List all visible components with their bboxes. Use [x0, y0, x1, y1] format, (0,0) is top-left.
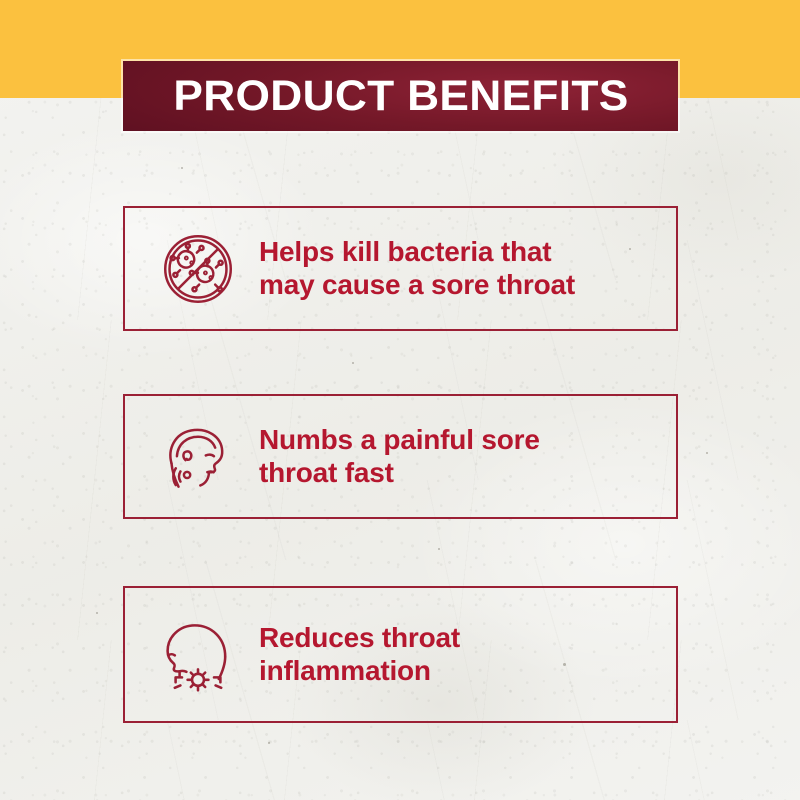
benefit-text: Reduces throat inflammation	[259, 622, 676, 687]
paper-speck	[438, 548, 440, 550]
benefit-text-line: may cause a sore throat	[259, 269, 662, 301]
head-profile-throat-pain-icon	[155, 418, 241, 496]
benefit-card: Reduces throat inflammation	[123, 586, 678, 723]
infographic-canvas: PRODUCT BENEFITS	[0, 0, 800, 800]
no-bacteria-icon	[155, 230, 241, 308]
benefit-text: Helps kill bacteria that may cause a sor…	[259, 236, 676, 301]
paper-speck	[181, 167, 183, 169]
benefit-text: Numbs a painful sore throat fast	[259, 424, 676, 489]
benefit-text-line: throat fast	[259, 457, 662, 489]
page-title: PRODUCT BENEFITS	[173, 75, 628, 118]
page-title-banner: PRODUCT BENEFITS	[123, 61, 678, 131]
benefit-card: Helps kill bacteria that may cause a sor…	[123, 206, 678, 331]
paper-speck	[96, 612, 98, 614]
benefit-text-line: inflammation	[259, 655, 662, 687]
benefit-text-line: Helps kill bacteria that	[259, 236, 662, 268]
benefit-text-line: Reduces throat	[259, 622, 662, 654]
paper-speck	[352, 362, 354, 364]
paper-speck	[706, 452, 708, 454]
benefit-text-line: Numbs a painful sore	[259, 424, 662, 456]
benefit-card: Numbs a painful sore throat fast	[123, 394, 678, 519]
head-throat-inflammation-icon	[155, 615, 241, 695]
paper-speck	[268, 742, 270, 744]
